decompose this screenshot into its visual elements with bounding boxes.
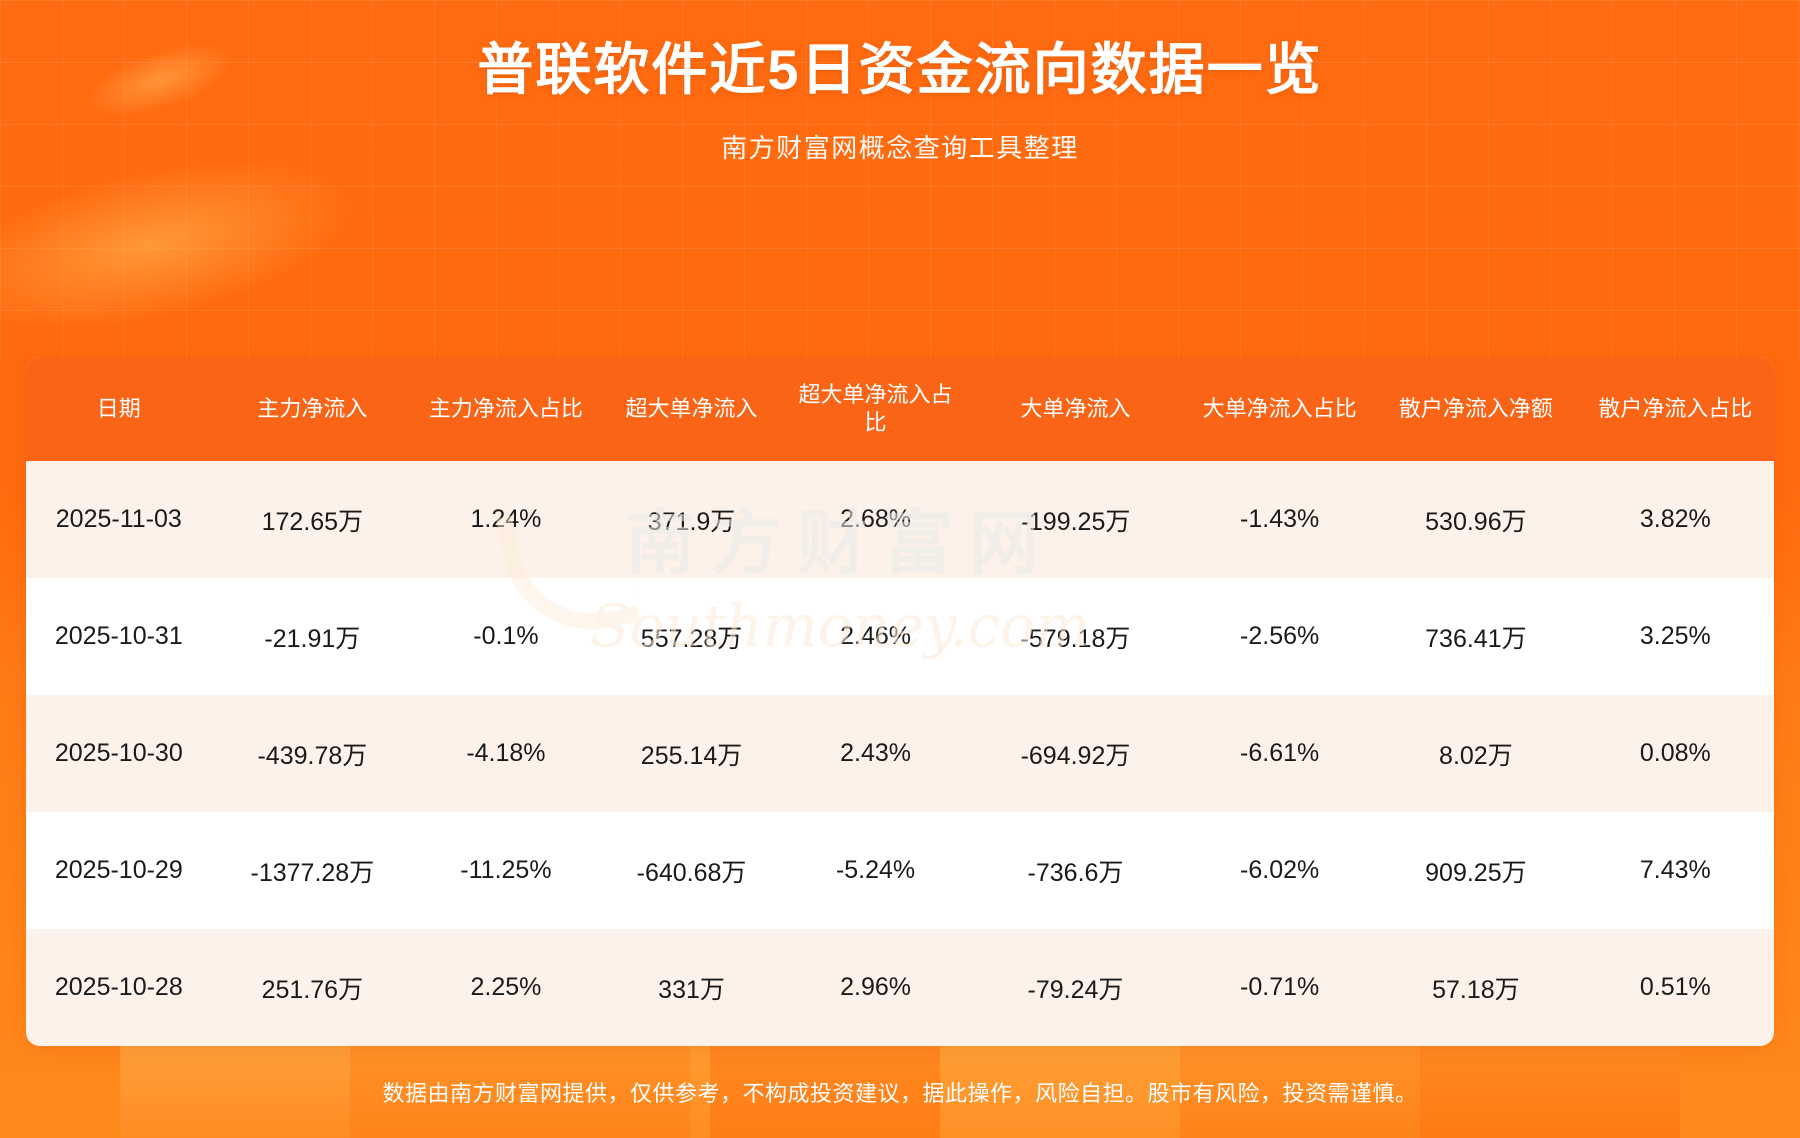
table-header-row: 日期 主力净流入 主力净流入占比 超大单净流入 超大单净流入占比 大单净流入 大… [26, 357, 1774, 461]
table-body: 2025-11-03 172.65万 1.24% 371.9万 2.68% -1… [26, 461, 1774, 1046]
data-table-card: 日期 主力净流入 主力净流入占比 超大单净流入 超大单净流入占比 大单净流入 大… [26, 357, 1774, 1046]
cell-retail-net: 530.96万 [1375, 461, 1577, 578]
cell-retail-net: 8.02万 [1375, 695, 1577, 812]
table-row: 2025-10-29 -1377.28万 -11.25% -640.68万 -5… [26, 812, 1774, 929]
cell-date: 2025-10-30 [26, 695, 212, 812]
page-subtitle: 南方财富网概念查询工具整理 [0, 128, 1800, 165]
cell-lg-pct: -6.61% [1184, 695, 1375, 812]
cell-main-net: 251.76万 [212, 929, 414, 1046]
cell-retail-net: 736.41万 [1375, 578, 1577, 695]
table-row: 2025-10-30 -439.78万 -4.18% 255.14万 2.43%… [26, 695, 1774, 812]
cell-retail-pct: 3.25% [1577, 578, 1774, 695]
cell-main-pct: 2.25% [413, 929, 599, 1046]
column-header-xl-pct[interactable]: 超大单净流入占比 [784, 357, 966, 461]
cell-lg-pct: -1.43% [1184, 461, 1375, 578]
cell-lg-net: -694.92万 [967, 695, 1184, 812]
table-row: 2025-11-03 172.65万 1.24% 371.9万 2.68% -1… [26, 461, 1774, 578]
column-header-date[interactable]: 日期 [26, 357, 212, 461]
cell-lg-pct: -0.71% [1184, 929, 1375, 1046]
column-header-lg-net[interactable]: 大单净流入 [967, 357, 1184, 461]
column-header-retail-net[interactable]: 散户净流入净额 [1375, 357, 1577, 461]
cell-xl-pct: 2.96% [784, 929, 966, 1046]
cell-date: 2025-10-28 [26, 929, 212, 1046]
cell-xl-net: -640.68万 [599, 812, 785, 929]
cell-main-net: -1377.28万 [212, 812, 414, 929]
cell-xl-pct: -5.24% [784, 812, 966, 929]
cell-xl-net: 557.28万 [599, 578, 785, 695]
cell-lg-pct: -6.02% [1184, 812, 1375, 929]
cell-main-pct: -4.18% [413, 695, 599, 812]
cell-date: 2025-10-31 [26, 578, 212, 695]
page-title: 普联软件近5日资金流向数据一览 [0, 38, 1800, 102]
cell-main-pct: -11.25% [413, 812, 599, 929]
column-header-retail-pct[interactable]: 散户净流入占比 [1577, 357, 1774, 461]
footer-disclaimer: 数据由南方财富网提供，仅供参考，不构成投资建议，据此操作，风险自担。股市有风险，… [382, 1076, 1417, 1108]
column-header-lg-pct[interactable]: 大单净流入占比 [1184, 357, 1375, 461]
column-header-main-pct[interactable]: 主力净流入占比 [413, 357, 599, 461]
cell-retail-pct: 7.43% [1577, 812, 1774, 929]
cell-xl-pct: 2.43% [784, 695, 966, 812]
cell-xl-pct: 2.46% [784, 578, 966, 695]
fund-flow-table: 日期 主力净流入 主力净流入占比 超大单净流入 超大单净流入占比 大单净流入 大… [26, 357, 1774, 1046]
footer: 数据由南方财富网提供，仅供参考，不构成投资建议，据此操作，风险自担。股市有风险，… [0, 1046, 1800, 1138]
cell-lg-pct: -2.56% [1184, 578, 1375, 695]
table-header: 日期 主力净流入 主力净流入占比 超大单净流入 超大单净流入占比 大单净流入 大… [26, 357, 1774, 461]
cell-xl-net: 331万 [599, 929, 785, 1046]
cell-retail-pct: 3.82% [1577, 461, 1774, 578]
cell-main-net: -21.91万 [212, 578, 414, 695]
table-row: 2025-10-31 -21.91万 -0.1% 557.28万 2.46% -… [26, 578, 1774, 695]
cell-lg-net: -199.25万 [967, 461, 1184, 578]
cell-xl-net: 255.14万 [599, 695, 785, 812]
cell-main-pct: -0.1% [413, 578, 599, 695]
cell-lg-net: -79.24万 [967, 929, 1184, 1046]
cell-xl-pct: 2.68% [784, 461, 966, 578]
cell-lg-net: -736.6万 [967, 812, 1184, 929]
cell-retail-pct: 0.51% [1577, 929, 1774, 1046]
cell-retail-net: 57.18万 [1375, 929, 1577, 1046]
heading-block: 普联软件近5日资金流向数据一览 南方财富网概念查询工具整理 [0, 0, 1800, 165]
cell-lg-net: -579.18万 [967, 578, 1184, 695]
cell-date: 2025-11-03 [26, 461, 212, 578]
cell-xl-net: 371.9万 [599, 461, 785, 578]
cell-date: 2025-10-29 [26, 812, 212, 929]
cell-retail-net: 909.25万 [1375, 812, 1577, 929]
table-row: 2025-10-28 251.76万 2.25% 331万 2.96% -79.… [26, 929, 1774, 1046]
column-header-xl-net[interactable]: 超大单净流入 [599, 357, 785, 461]
cell-retail-pct: 0.08% [1577, 695, 1774, 812]
cell-main-net: -439.78万 [212, 695, 414, 812]
column-header-main-net[interactable]: 主力净流入 [212, 357, 414, 461]
cell-main-net: 172.65万 [212, 461, 414, 578]
cell-main-pct: 1.24% [413, 461, 599, 578]
